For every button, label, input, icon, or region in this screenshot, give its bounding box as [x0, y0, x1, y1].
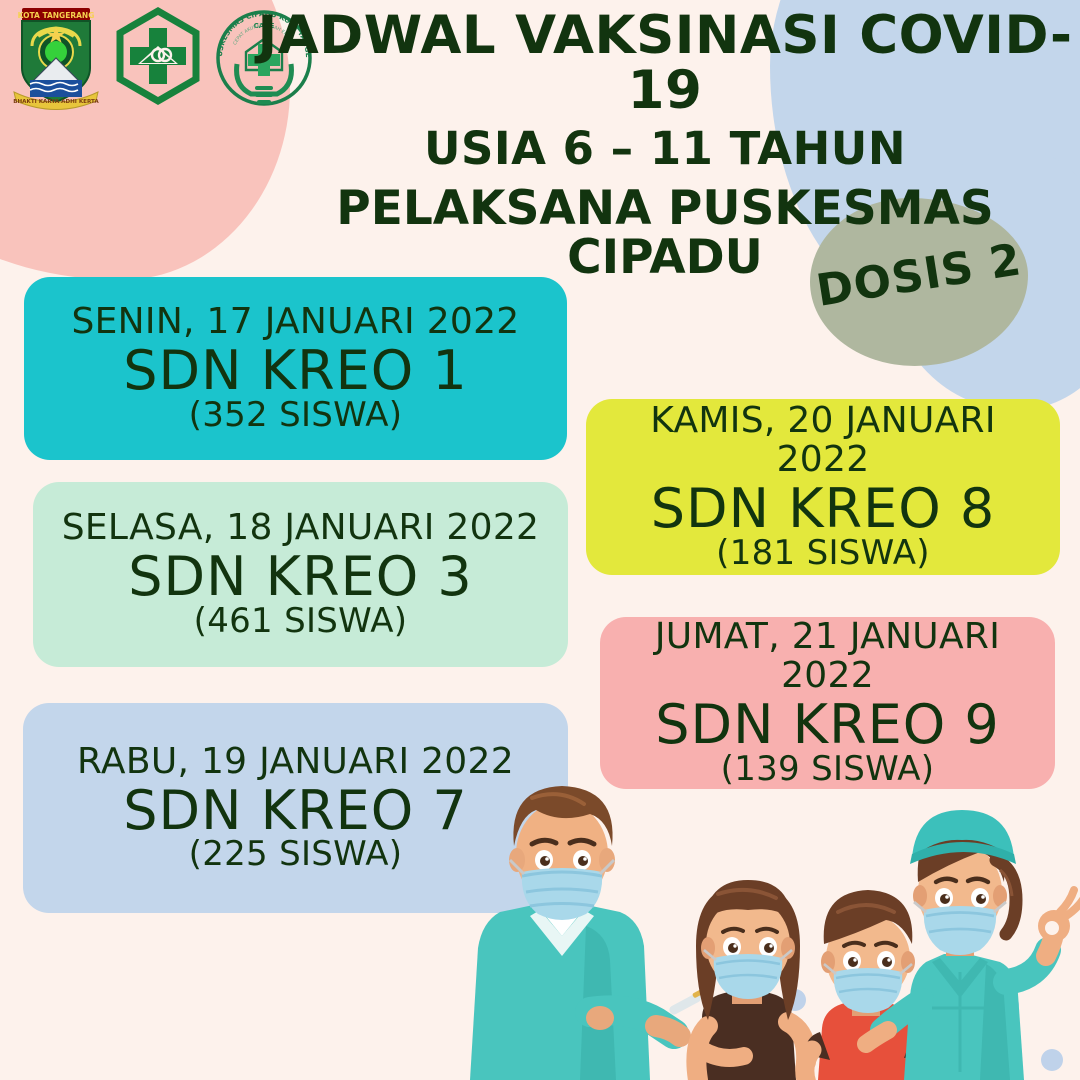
card-date: RABU, 19 JANUARI 2022: [35, 743, 556, 782]
schedule-card[interactable]: JUMAT, 21 JANUARI 2022 SDN KREO 9 (139 S…: [600, 617, 1055, 789]
logo-kota-tangerang-icon: KOTA TANGERANG BHAKTI KARYA ADHI KERTA: [8, 6, 104, 110]
schedule-card[interactable]: SELASA, 18 JANUARI 2022 SDN KREO 3 (461 …: [33, 482, 568, 667]
card-date: JUMAT, 21 JANUARI 2022: [612, 618, 1043, 696]
title-line-3: PELAKSANA PUSKESMAS CIPADU: [250, 185, 1080, 283]
poster-canvas: KOTA TANGERANG BHAKTI KARYA ADHI KERTA: [0, 0, 1080, 1080]
poster-title: JADWAL VAKSINASI COVID-19 USIA 6 – 11 TA…: [250, 8, 1080, 283]
card-date: KAMIS, 20 JANUARI 2022: [598, 402, 1048, 480]
card-school: SDN KREO 8: [598, 481, 1048, 538]
card-student-count: (181 SISWA): [598, 536, 1048, 572]
card-student-count: (225 SISWA): [35, 837, 556, 873]
title-line-2: USIA 6 – 11 TAHUN: [250, 126, 1080, 173]
schedule-card[interactable]: KAMIS, 20 JANUARI 2022 SDN KREO 8 (181 S…: [586, 399, 1060, 575]
card-school: SDN KREO 9: [612, 697, 1043, 754]
card-date: SENIN, 17 JANUARI 2022: [36, 303, 555, 342]
schedule-card[interactable]: RABU, 19 JANUARI 2022 SDN KREO 7 (225 SI…: [23, 703, 568, 913]
card-student-count: (139 SISWA): [612, 752, 1043, 788]
schedule-card[interactable]: SENIN, 17 JANUARI 2022 SDN KREO 1 (352 S…: [24, 277, 567, 460]
card-school: SDN KREO 1: [36, 343, 555, 400]
title-line-1: JADWAL VAKSINASI COVID-19: [250, 8, 1080, 118]
card-school: SDN KREO 7: [35, 783, 556, 840]
card-date: SELASA, 18 JANUARI 2022: [45, 509, 556, 548]
card-student-count: (461 SISWA): [45, 604, 556, 640]
logo-hexagon-cross-icon: [108, 6, 208, 106]
svg-text:BHAKTI KARYA ADHI KERTA: BHAKTI KARYA ADHI KERTA: [13, 99, 99, 105]
card-student-count: (352 SISWA): [36, 398, 555, 434]
svg-text:KOTA TANGERANG: KOTA TANGERANG: [18, 11, 95, 20]
card-school: SDN KREO 3: [45, 549, 556, 606]
